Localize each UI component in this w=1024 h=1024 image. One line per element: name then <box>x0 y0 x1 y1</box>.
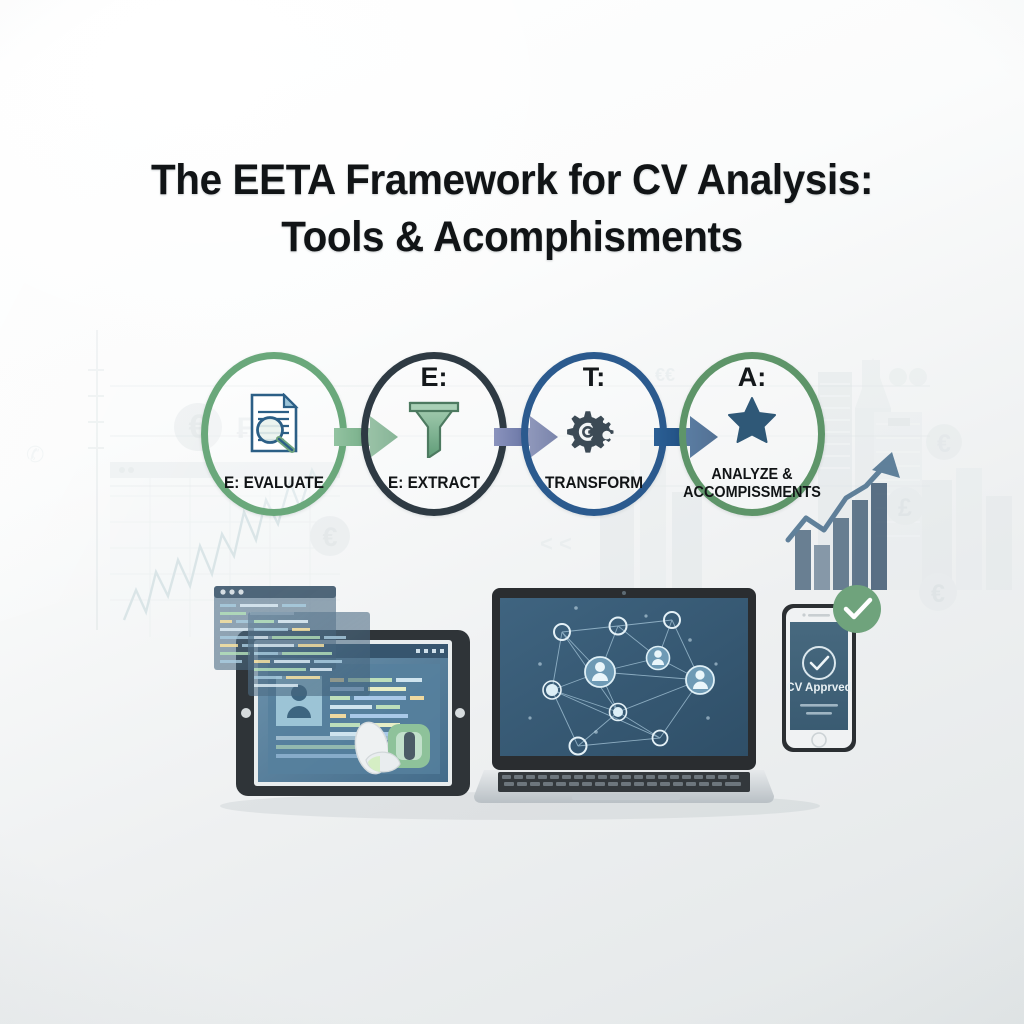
flow-node-evaluate[interactable]: E: EVALUATE <box>198 352 350 518</box>
background-light-streak <box>0 0 542 637</box>
flow-node-extract[interactable]: E: E: EXTRACT <box>358 352 510 518</box>
title-line-1: The EETA Framework for CV Analysis: <box>31 152 994 209</box>
document-magnifier-icon <box>242 392 306 454</box>
eeta-flow-diagram: E: EVALUATE E: E: EXTRACT <box>0 352 1024 524</box>
flow-node-analyze-label-line1: ANALYZE & <box>711 466 792 483</box>
flow-node-transform-key: T: <box>518 362 670 393</box>
device-scene: CV Apprved <box>0 560 1024 860</box>
funnel-icon <box>402 398 466 460</box>
code-window-front <box>248 612 370 696</box>
title-line-2: Tools & Acomphisments <box>31 209 994 266</box>
gears-icon <box>562 400 626 462</box>
poster-canvas: € ₣ € ✆ <box>0 0 1024 1024</box>
flow-node-analyze[interactable]: A: ANALYZE & ACCOMPISSMENTS <box>676 352 828 518</box>
svg-text:€: € <box>322 522 337 552</box>
phone-device <box>782 585 881 752</box>
flow-node-analyze-label: ANALYZE & ACCOMPISSMENTS <box>674 466 830 502</box>
flow-node-extract-key: E: <box>358 362 510 393</box>
flow-node-evaluate-label: E: EVALUATE <box>196 475 352 492</box>
star-icon <box>720 398 784 442</box>
flow-node-transform[interactable]: T: TRANSFORM <box>518 352 670 518</box>
page-title: The EETA Framework for CV Analysis: Tool… <box>0 152 1024 266</box>
flow-node-analyze-label-line2: ACCOMPISSMENTS <box>683 484 821 501</box>
phone-status-text: CV Apprved <box>786 682 851 694</box>
flow-node-transform-label: TRANSFORM <box>516 475 672 492</box>
flow-node-extract-label: E: EXTRACT <box>356 475 512 492</box>
svg-text:< <: < < <box>540 531 572 556</box>
flow-node-analyze-key: A: <box>676 362 828 393</box>
laptop-device <box>474 588 774 803</box>
